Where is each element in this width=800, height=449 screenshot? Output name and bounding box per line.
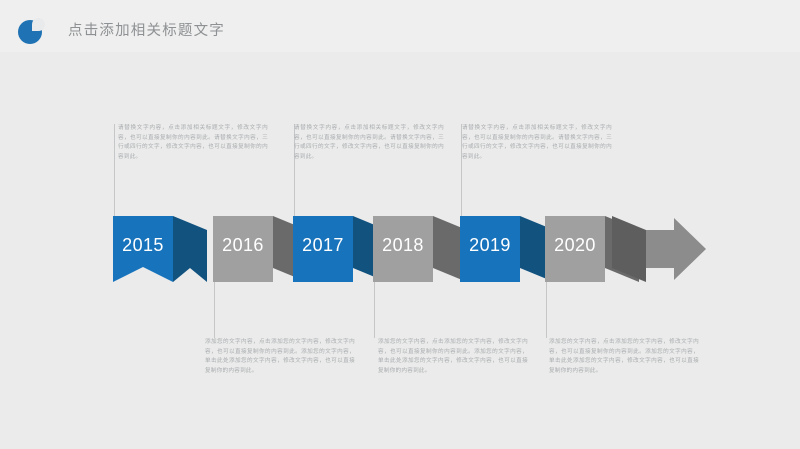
segment-fold-2015 xyxy=(173,216,207,282)
timeline-description-top-1[interactable]: 请替换文字内容，点击添加相关标题文字，修改文字内容，也可以直接复制你的内容到此。… xyxy=(118,124,268,162)
connector-line-2020 xyxy=(546,282,547,338)
timeline-description-bottom-3[interactable]: 添加您的文字内容，点击添加您的文字内容，修改文字内容，也可以直接复制你的内容到此… xyxy=(549,338,699,376)
timeline-graphic: 201520162017201820192020请替换文字内容，点击添加相关标题… xyxy=(0,0,800,449)
segment-year-label: 2018 xyxy=(373,216,433,274)
timeline-description-bottom-1[interactable]: 添加您的文字内容，点击添加您的文字内容，修改文字内容，也可以直接复制你的内容到此… xyxy=(205,338,355,376)
timeline-description-top-3[interactable]: 请替换文字内容，点击添加相关标题文字，修改文字内容，也可以直接复制你的内容到此。… xyxy=(462,124,612,162)
connector-line-2015 xyxy=(114,124,115,216)
timeline-description-bottom-2[interactable]: 添加您的文字内容，点击添加您的文字内容，修改文字内容，也可以直接复制你的内容到此… xyxy=(378,338,528,376)
timeline-description-top-2[interactable]: 请替换文字内容，点击添加相关标题文字，修改文字内容，也可以直接复制你的内容到此。… xyxy=(294,124,444,162)
timeline-end-arrow-icon xyxy=(612,216,708,282)
segment-year-label: 2017 xyxy=(293,216,353,274)
connector-line-2016 xyxy=(214,282,215,338)
segment-year-label: 2020 xyxy=(545,216,605,274)
segment-year-label: 2015 xyxy=(113,216,173,274)
connector-line-2018 xyxy=(374,282,375,338)
segment-year-label: 2016 xyxy=(213,216,273,274)
segment-year-label: 2019 xyxy=(460,216,520,274)
